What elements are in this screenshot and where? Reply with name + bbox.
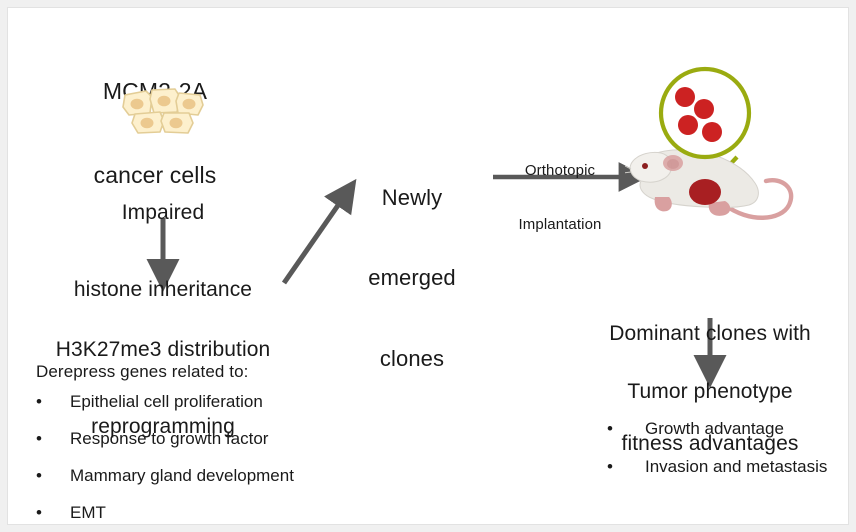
tumor-phenotype-title: Tumor phenotype [627,379,792,405]
clones-line-2: emerged [368,265,456,292]
list-item: • Invasion and metastasis [607,457,827,495]
clone-dot [694,99,714,119]
bullet-icon: • [36,467,70,484]
clone-dot [678,115,698,135]
list-item-label: Growth advantage [645,419,784,439]
diagram-canvas: MCM2-2A cancer cells Impaired histone in… [0,0,856,532]
dominant-line-1: Dominant clones with [609,316,811,353]
list-item-label: Response to growth factor [70,429,268,449]
clone-dot [675,87,695,107]
bullet-icon: • [36,504,70,521]
orthotopic-implantation-label: Orthotopic Implantation [519,125,602,271]
implantation-line-2: Implantation [519,216,602,234]
list-item: • EMT [36,503,294,532]
impaired-line-1: Impaired [74,200,252,226]
list-item: • Mammary gland development [36,466,294,503]
clone-dot [702,122,722,142]
bullet-icon: • [36,430,70,447]
mouse-eye [642,163,648,169]
list-item-label: Mammary gland development [70,466,294,486]
tumor-nodule-icon [689,179,721,205]
clones-line-3: clones [368,346,456,373]
implantation-line-1: Orthotopic [519,162,602,180]
derepressed-gene-list: • Epithelial cell proliferation • Respon… [36,392,294,532]
arrow-reprogramming-to-clones [284,201,341,283]
list-item-label: EMT [70,503,106,523]
list-item: • Growth advantage [607,419,827,457]
derepress-genes-label: Derepress genes related to: [36,362,249,383]
bullet-icon: • [607,420,645,437]
mouse-with-tumor-callout-graphic [625,65,845,235]
bullet-icon: • [607,458,645,475]
newly-emerged-clones-label: Newly emerged clones [368,131,456,426]
list-item-label: Invasion and metastasis [645,457,827,477]
reprogramming-line-1: H3K27me3 distribution [56,337,271,363]
epithelial-cell-cluster-icon [119,85,207,137]
mouse-ear-inner [667,159,679,169]
tumor-phenotype-list: • Growth advantage • Invasion and metast… [607,419,827,495]
list-item-label: Epithelial cell proliferation [70,392,263,412]
bullet-icon: • [36,393,70,410]
list-item: • Response to growth factor [36,429,294,466]
list-item: • Epithelial cell proliferation [36,392,294,429]
clones-line-1: Newly [368,185,456,212]
mouse-front-foot [655,197,672,211]
